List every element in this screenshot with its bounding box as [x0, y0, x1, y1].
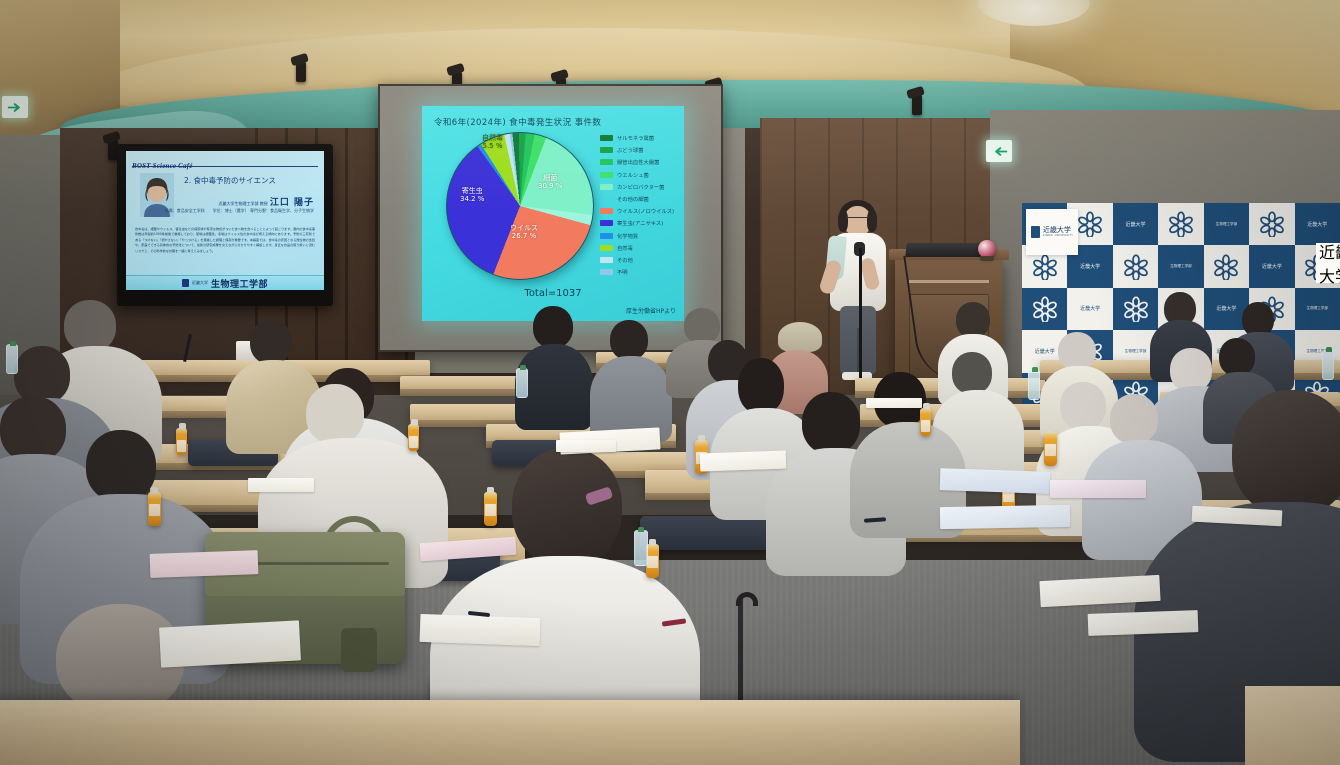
legend-label: 腸管出血性大腸菌 [617, 158, 659, 166]
tea-bottle [408, 424, 419, 451]
backdrop-tile: 生物理工学部 [1204, 203, 1249, 245]
track-spotlight-icon [912, 95, 922, 115]
legend-swatch-icon [600, 172, 613, 178]
tea-bottle [176, 428, 187, 455]
legend-swatch-icon [600, 233, 613, 239]
tea-bottle [920, 408, 931, 436]
audience-head-gray-hair [1058, 332, 1096, 370]
legend-item: 腸管出血性大腸菌 [600, 156, 678, 168]
legend-item: 不明 [600, 266, 678, 278]
handout-paper [1088, 610, 1199, 636]
legend-swatch-icon [600, 147, 613, 153]
audience-head [952, 352, 992, 394]
pie-chart: 細菌30.9 % ウイルス26.7 % 寄生虫34.2 % 自然毒5.5 % [446, 132, 594, 280]
bag-strap [341, 628, 377, 672]
audience-hat [778, 322, 822, 352]
legend-label: ウエルシュ菌 [617, 171, 649, 179]
slide-source-note: 厚生労働省HPより [626, 306, 676, 315]
monitor-slide: BOST Science Café 2. 食中毒予防のサイエンス 近畿大学生物理… [126, 151, 324, 290]
tea-bottle [1044, 432, 1057, 466]
monitor-session-heading: 2. 食中毒予防のサイエンス [184, 175, 276, 186]
backdrop-tile [1113, 245, 1158, 287]
legend-item: 自然毒 [600, 242, 678, 254]
legend-item: ぶどう球菌 [600, 144, 678, 156]
speaker-name: 江口 陽子 [270, 198, 314, 208]
backdrop-tile [1249, 203, 1294, 245]
backdrop-tile-label: 近畿大学 [1262, 263, 1282, 270]
legend-item: サルモネラ属菌 [600, 132, 678, 144]
water-bottle [6, 344, 18, 374]
handout-paper [556, 440, 616, 452]
chair [640, 516, 770, 550]
audience-head [802, 392, 860, 454]
ornament-base [980, 256, 994, 261]
legend-label: ぶどう球菌 [617, 146, 644, 154]
exit-sign-right [986, 140, 1012, 162]
legend-item: その他の細菌 [600, 193, 678, 205]
kindai-flower-icon [1032, 296, 1058, 322]
legend-label: 自然毒 [617, 244, 633, 252]
backdrop-tile-label: 近畿大学 [1216, 305, 1236, 312]
backdrop-tile: 近畿大学 [1249, 245, 1294, 287]
monitor-footer-logo: 近畿大学 生物理工学部 [126, 275, 324, 290]
microphone-stand [859, 248, 862, 380]
water-bottle [1028, 370, 1040, 400]
handout-paper-pink [1050, 480, 1146, 498]
legend-label: その他の細菌 [617, 195, 649, 203]
handout-paper [420, 614, 541, 646]
audience-head [86, 430, 156, 502]
backdrop-tile: 近畿大学 [1113, 203, 1158, 245]
pie-callout-bacteria: 細菌30.9 % [538, 174, 562, 190]
podium-laptop [905, 243, 984, 257]
audience-head [64, 300, 116, 352]
bost-science-cafe-title: BOST Science Café [132, 162, 193, 170]
handout-paper-pink [150, 550, 259, 578]
legend-swatch-icon [600, 184, 613, 190]
kindai-flower-icon [1259, 211, 1285, 237]
handout-paper [700, 451, 787, 472]
backdrop-logo-text: 近畿大学 KINDAI UNIVERSITY [1043, 226, 1073, 237]
legend-item: その他 [600, 254, 678, 266]
handout-paper-blue [940, 468, 1051, 494]
kindai-mark-icon [182, 279, 189, 287]
audience-head [1232, 390, 1340, 516]
audience-head-gray-hair [1060, 382, 1106, 430]
slide-total-label: Total=1037 [422, 288, 684, 299]
backdrop-tile [1158, 203, 1203, 245]
legend-swatch-icon [600, 257, 613, 263]
kindai-flower-icon [1168, 211, 1194, 237]
projected-slide: 令和6年(2024年) 食中毒発生状況 事件数 細菌30.9 % ウイルス26.… [422, 106, 684, 321]
backdrop-tile-label: 生物理工学部 [1170, 264, 1192, 269]
audience-head [610, 320, 648, 360]
front-table [0, 700, 1020, 765]
handout-paper [159, 620, 301, 667]
audience-head [738, 358, 784, 414]
footer-university-name: 近畿大学 [192, 280, 208, 286]
backdrop-tile [1204, 245, 1249, 287]
backdrop-logo-secondary: 近畿大学 [1316, 243, 1340, 283]
exit-arrow-left-icon [991, 145, 1008, 158]
legend-swatch-icon [600, 245, 613, 251]
kindai-flower-icon [1032, 254, 1058, 280]
track-spotlight-icon [296, 62, 306, 82]
legend-item: 寄生虫(アニサキス) [600, 217, 678, 229]
water-bottle [1322, 350, 1334, 380]
pie-chart-legend: サルモネラ属菌ぶどう球菌腸管出血性大腸菌ウエルシュ菌カンピロバクター菌その他の細… [600, 132, 678, 278]
legend-swatch-icon [600, 196, 613, 202]
legend-item: カンピロバクター菌 [600, 181, 678, 193]
water-bottle [634, 530, 648, 566]
audience-head [684, 308, 720, 344]
audience-head-gray-hair [1110, 394, 1158, 444]
legend-label: 不明 [617, 268, 628, 276]
backdrop-tile [1022, 288, 1067, 330]
tea-bottle [148, 492, 161, 526]
audience-head [14, 346, 70, 404]
pie-chart-disc [446, 132, 594, 280]
walking-cane [738, 596, 743, 716]
legend-label: 化学物質 [617, 232, 638, 240]
backdrop-tile-label: 生物理工学部 [1125, 349, 1147, 354]
audience-head [250, 320, 292, 364]
audience-head [512, 448, 622, 566]
legend-swatch-icon [600, 159, 613, 165]
pie-callout-natural-toxin: 自然毒5.5 % [482, 134, 503, 150]
handout-paper [248, 478, 314, 492]
pie-callout-virus: ウイルス26.7 % [510, 224, 538, 240]
backdrop-tile: 生物理工学部 [1158, 245, 1203, 287]
monitor-speaker-block: 近畿大学生物理工学部 教授 江口 陽子 [219, 195, 315, 208]
backdrop-tile-label: 近畿大学 [1080, 305, 1100, 312]
presenter-trousers [840, 306, 876, 374]
audience-head-hood [306, 384, 364, 444]
slide-title: 令和6年(2024年) 食中毒発生状況 事件数 [434, 116, 601, 128]
left-display-monitor: BOST Science Café 2. 食中毒予防のサイエンス 近畿大学生物理… [117, 144, 333, 306]
legend-swatch-icon [600, 220, 613, 226]
monitor-brand-bar: BOST Science Café [132, 155, 318, 167]
backdrop-tile [1113, 288, 1158, 330]
kindai-mark-icon [1031, 226, 1040, 238]
kindai-flower-icon [1123, 296, 1149, 322]
backdrop-tile: 生物理工学部 [1295, 288, 1340, 330]
legend-swatch-icon [600, 208, 613, 214]
backdrop-tile: 近畿大学 [1067, 288, 1112, 330]
kindai-flower-icon [1123, 254, 1149, 280]
pie-callout-parasite: 寄生虫34.2 % [460, 187, 484, 203]
backdrop-tile-label: 近畿大学 [1080, 263, 1100, 270]
legend-swatch-icon [600, 135, 613, 141]
backdrop-tile-label: 生物理工学部 [1306, 306, 1328, 311]
kindai-flower-icon [1077, 211, 1103, 237]
legend-label: ウイルス(ノロウイルス) [617, 207, 674, 215]
front-table-right [1245, 686, 1340, 765]
backdrop-tile-label: 近畿大学 [1035, 348, 1055, 355]
monitor-affiliation-lines: 所属：食品安全工学科 学位：博士（農学） 専門分野：食品衛生学、分子生物学 [165, 208, 314, 214]
presenter-glasses [846, 217, 869, 222]
audience-head [1219, 338, 1255, 376]
legend-label: カンピロバクター菌 [617, 183, 664, 191]
backdrop-logo-sub: KINDAI UNIVERSITY [1043, 235, 1073, 238]
audience-head [0, 396, 66, 462]
handout-paper [866, 398, 922, 408]
presenter [818, 200, 898, 395]
exit-arrow-right-icon [7, 101, 24, 114]
lecture-hall-scene: 近畿大学 生物理工学部 近畿大学 近畿大学 生物理工学部 [0, 0, 1340, 765]
legend-swatch-icon [600, 269, 613, 275]
handout-paper-blue [940, 505, 1070, 529]
legend-item: ウエルシュ菌 [600, 169, 678, 181]
legend-item: 化学物質 [600, 230, 678, 242]
legend-label: その他 [617, 256, 633, 264]
backdrop-tile-label: 近畿大学 [1126, 221, 1146, 228]
legend-item: ウイルス(ノロウイルス) [600, 205, 678, 217]
water-bottle [516, 368, 528, 398]
monitor-abstract-text: 食中毒は、細菌やウイルス、寄生虫などの病原体や有害な物質がついた食べ物を食べるこ… [135, 227, 315, 254]
backdrop-logo-primary: 近畿大学 KINDAI UNIVERSITY [1026, 209, 1078, 255]
audience-head [533, 306, 573, 348]
backdrop-tile-label: 近畿大学 [1307, 221, 1327, 228]
speaker-affiliation-prefix: 近畿大学生物理工学部 教授 [219, 201, 268, 206]
audience-head [956, 302, 990, 338]
legend-label: サルモネラ属菌 [617, 134, 654, 142]
backdrop-logo-name-2: 近畿大学 [1319, 239, 1340, 287]
legend-label: 寄生虫(アニサキス) [617, 219, 663, 227]
tea-bottle [484, 492, 497, 526]
backdrop-tile-label: 生物理工学部 [1216, 222, 1238, 227]
kindai-flower-icon [1213, 254, 1239, 280]
exit-sign-left [2, 96, 28, 118]
footer-faculty-name: 生物理工学部 [211, 277, 268, 290]
